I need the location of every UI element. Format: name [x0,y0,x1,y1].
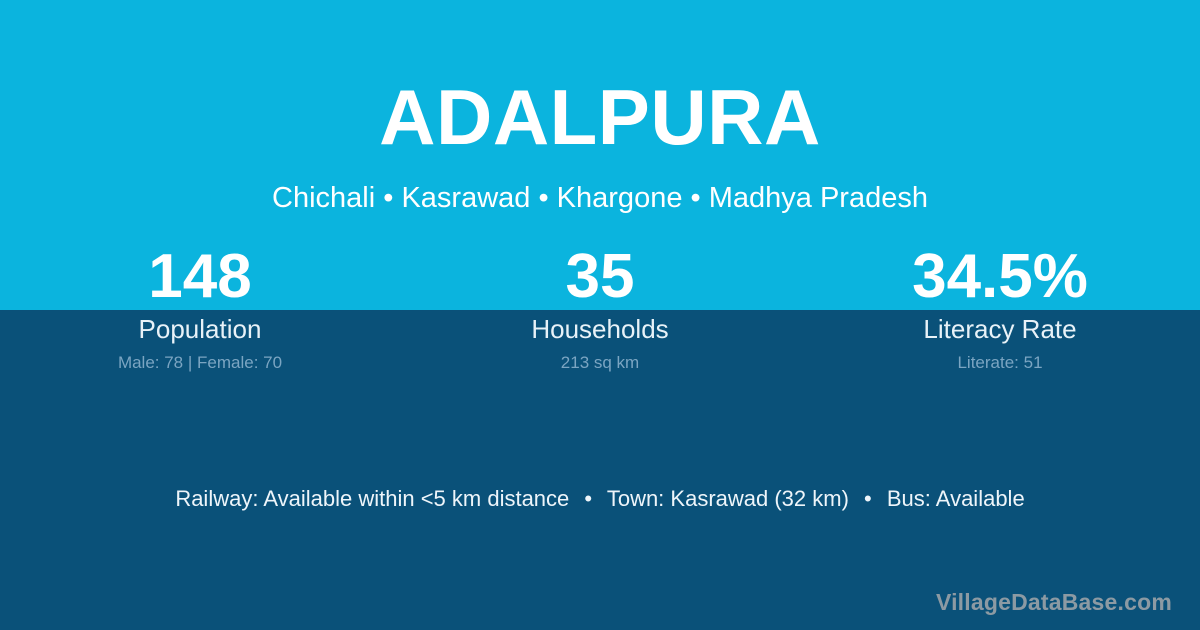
watermark: VillageDataBase.com [936,589,1172,616]
stat-literacy-rate-sub: Literate: 51 [800,353,1200,373]
facts-line: Railway: Available within <5 km distance… [0,485,1200,514]
fact-town: Town: Kasrawad (32 km) [607,486,849,511]
stats-row: 148 Population Male: 78 | Female: 70 35 … [0,246,1200,374]
stat-households-label: Households [400,314,800,345]
village-info-card: ADALPURA Chichali • Kasrawad • Khargone … [0,0,1200,630]
stat-population-label: Population [0,314,400,345]
stat-households-value: 35 [400,246,800,310]
stat-population: 148 Population Male: 78 | Female: 70 [0,246,400,374]
stat-literacy-rate-value: 34.5% [800,246,1200,310]
fact-bus: Bus: Available [887,486,1025,511]
fact-railway: Railway: Available within <5 km distance [175,486,569,511]
stat-population-value: 148 [0,246,400,310]
stat-literacy-rate-label: Literacy Rate [800,314,1200,345]
fact-separator-1: • [575,485,601,514]
stat-population-sub: Male: 78 | Female: 70 [0,353,400,373]
page-title: ADALPURA [0,78,1200,156]
stat-households-sub: 213 sq km [400,353,800,373]
stat-literacy-rate: 34.5% Literacy Rate Literate: 51 [800,246,1200,374]
breadcrumb: Chichali • Kasrawad • Khargone • Madhya … [0,182,1200,215]
fact-separator-2: • [855,485,881,514]
stat-households: 35 Households 213 sq km [400,246,800,374]
